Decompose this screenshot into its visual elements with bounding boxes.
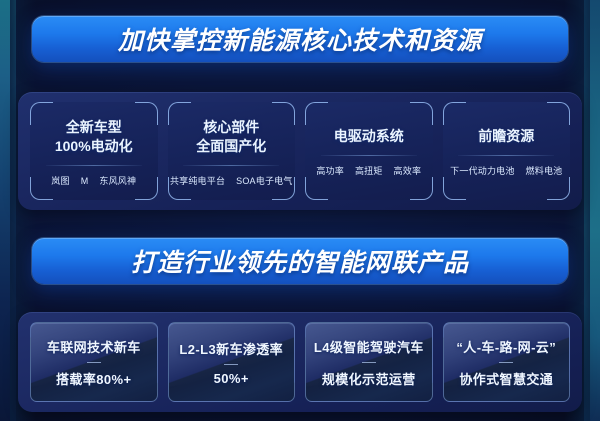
metric-card-line2: 搭载率80%+ xyxy=(56,369,131,388)
metric-card[interactable]: 车联网技术新车 搭载率80%+ xyxy=(30,322,158,402)
divider xyxy=(183,165,279,166)
tech-card-title: 电驱动系统 xyxy=(334,127,404,146)
metric-card-line1: L2-L3新车渗透率 xyxy=(179,339,283,358)
tech-card-tag: 高效率 xyxy=(394,164,422,177)
tech-card-title: 前瞻资源 xyxy=(478,127,534,146)
section-banner-1-title: 加快掌控新能源核心技术和资源 xyxy=(118,21,482,57)
section-banner-2: 打造行业领先的智能网联产品 xyxy=(32,238,568,284)
tech-card[interactable]: 电驱动系统 高功率 高扭矩 高效率 xyxy=(305,102,433,200)
metric-card-line1: 车联网技术新车 xyxy=(47,337,141,356)
divider xyxy=(224,364,238,365)
tech-card-tag: 高扭矩 xyxy=(355,164,383,177)
right-edge-strip xyxy=(584,0,600,421)
tech-card-tag: SOA电子电气 xyxy=(236,174,292,187)
corner-bracket-icon xyxy=(135,102,158,125)
corner-bracket-icon xyxy=(272,102,295,125)
tech-card-tag: 下一代动力电池 xyxy=(450,164,514,177)
divider xyxy=(46,165,142,166)
divider xyxy=(362,362,376,363)
tech-card-title: 核心部件 全面国产化 xyxy=(196,118,266,156)
corner-bracket-icon xyxy=(30,177,53,200)
divider xyxy=(458,155,554,156)
section-1-card-row: 全新车型 100%电动化 岚图 M 东风风神 核心部件 全面国产化 共享纯电平台 xyxy=(30,102,570,200)
metric-card-line2: 50%+ xyxy=(214,371,249,386)
corner-bracket-icon xyxy=(547,102,570,125)
corner-bracket-icon xyxy=(443,177,466,200)
tech-card-tag: 共享纯电平台 xyxy=(170,174,225,187)
metric-card-line1: L4级智能驾驶汽车 xyxy=(314,337,424,356)
divider xyxy=(87,362,101,363)
section-2-card-row: 车联网技术新车 搭载率80%+ L2-L3新车渗透率 50%+ L4级智能驾驶汽… xyxy=(30,322,570,402)
metric-card-line2: 规模化示范运营 xyxy=(322,369,416,388)
tech-card[interactable]: 核心部件 全面国产化 共享纯电平台 SOA电子电气 xyxy=(168,102,296,200)
tech-card-tags: 岚图 M 东风风神 xyxy=(51,174,136,187)
tech-card-tags: 共享纯电平台 SOA电子电气 xyxy=(170,174,293,187)
metric-card[interactable]: “人-车-路-网-云” 协作式智慧交通 xyxy=(443,322,571,402)
tech-card-tag: 高功率 xyxy=(316,164,344,177)
metric-card[interactable]: L4级智能驾驶汽车 规模化示范运营 xyxy=(305,322,433,402)
section-banner-1: 加快掌控新能源核心技术和资源 xyxy=(32,16,568,62)
divider xyxy=(499,362,513,363)
tech-card-tag: 岚图 xyxy=(51,174,69,187)
slide-root: 加快掌控新能源核心技术和资源 全新车型 100%电动化 岚图 M 东风风神 xyxy=(0,0,600,421)
tech-card-tag: M xyxy=(81,176,89,186)
metric-card-line1: “人-车-路-网-云” xyxy=(456,337,556,356)
tech-card[interactable]: 前瞻资源 下一代动力电池 燃料电池 xyxy=(443,102,571,200)
tech-card-tags: 高功率 高扭矩 高效率 xyxy=(316,164,421,177)
metric-card-line2: 协作式智慧交通 xyxy=(459,369,553,388)
content-area: 加快掌控新能源核心技术和资源 全新车型 100%电动化 岚图 M 东风风神 xyxy=(14,0,586,421)
tech-card-tag: 燃料电池 xyxy=(526,164,563,177)
tech-card-title: 全新车型 100%电动化 xyxy=(55,118,133,156)
tech-card-tags: 下一代动力电池 燃料电池 xyxy=(450,164,562,177)
section-2-panel: 车联网技术新车 搭载率80%+ L2-L3新车渗透率 50%+ L4级智能驾驶汽… xyxy=(18,312,582,412)
section-1-panel: 全新车型 100%电动化 岚图 M 东风风神 核心部件 全面国产化 共享纯电平台 xyxy=(18,92,582,210)
corner-bracket-icon xyxy=(305,177,328,200)
corner-bracket-icon xyxy=(410,102,433,125)
tech-card[interactable]: 全新车型 100%电动化 岚图 M 东风风神 xyxy=(30,102,158,200)
section-banner-2-title: 打造行业领先的智能网联产品 xyxy=(131,243,469,279)
tech-card-tag: 东风风神 xyxy=(99,174,136,187)
divider xyxy=(321,155,417,156)
metric-card[interactable]: L2-L3新车渗透率 50%+ xyxy=(168,322,296,402)
